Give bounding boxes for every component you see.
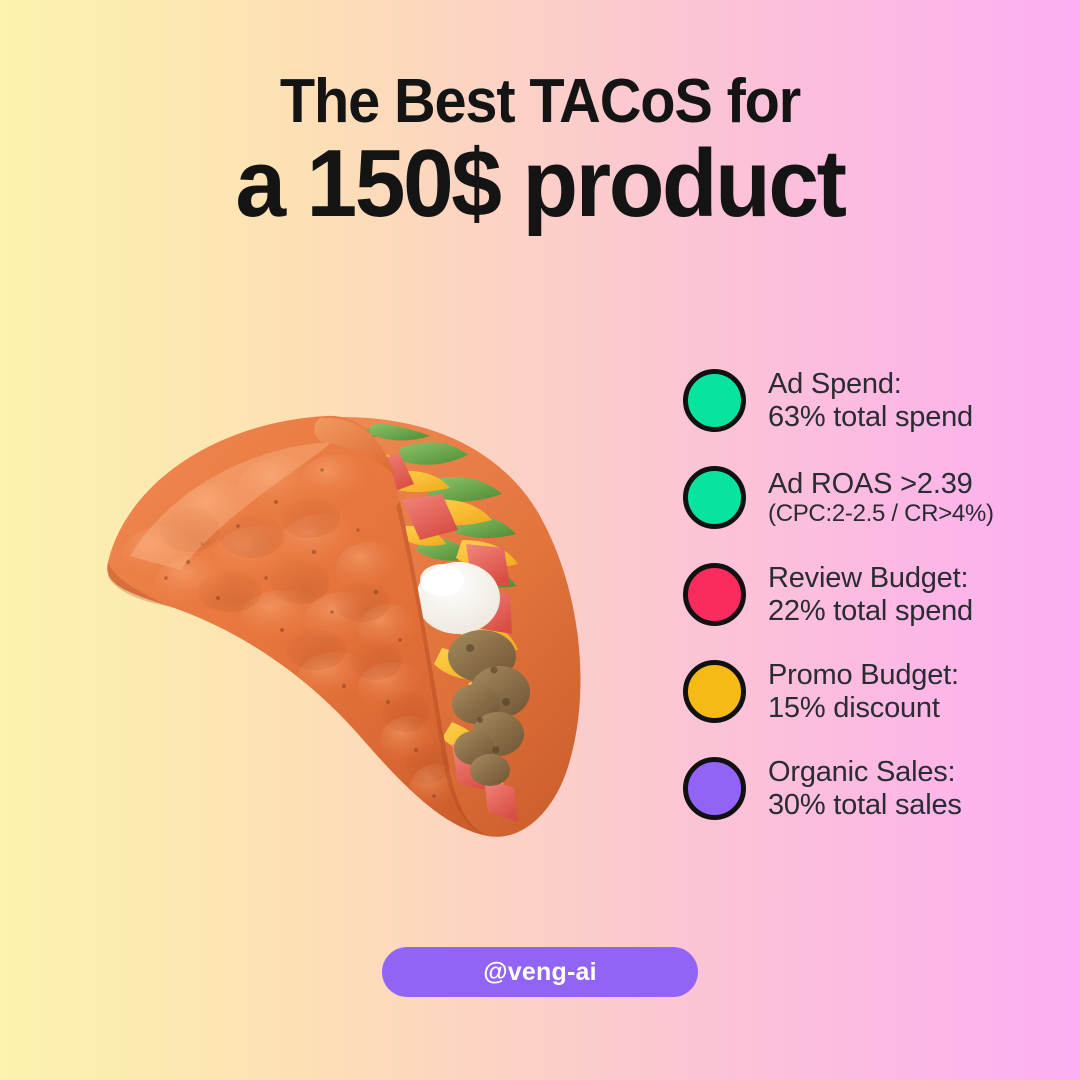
legend-item-organic-sales: Organic Sales: 30% total sales	[683, 740, 1063, 837]
legend-text-organic-sales: Organic Sales: 30% total sales	[768, 756, 962, 822]
legend-item-promo-budget: Promo Budget: 15% discount	[683, 643, 1063, 740]
legend-secondary-ad-roas: (CPC:2-2.5 / CR>4%)	[768, 500, 994, 527]
legend-primary-organic-sales: Organic Sales:	[768, 756, 962, 789]
legend-item-review-budget: Review Budget: 22% total spend	[683, 546, 1063, 643]
legend-primary-review-budget: Review Budget:	[768, 562, 973, 595]
legend-secondary-organic-sales: 30% total sales	[768, 789, 962, 822]
taco-illustration	[70, 330, 690, 890]
legend-dot-promo-budget	[683, 660, 746, 723]
legend-secondary-review-budget: 22% total spend	[768, 595, 973, 628]
handle-label: @veng-ai	[483, 958, 597, 987]
legend-secondary-ad-spend: 63% total spend	[768, 401, 973, 434]
legend-dot-ad-roas	[683, 466, 746, 529]
legend-primary-promo-budget: Promo Budget:	[768, 659, 959, 692]
page-title-line-1: The Best TACoS for	[38, 72, 1042, 132]
legend-item-ad-spend: Ad Spend: 63% total spend	[683, 352, 1063, 449]
legend-dot-organic-sales	[683, 757, 746, 820]
legend-primary-ad-spend: Ad Spend:	[768, 368, 973, 401]
legend-text-promo-budget: Promo Budget: 15% discount	[768, 659, 959, 725]
legend-secondary-promo-budget: 15% discount	[768, 692, 959, 725]
legend-dot-ad-spend	[683, 369, 746, 432]
legend-text-review-budget: Review Budget: 22% total spend	[768, 562, 973, 628]
metrics-legend: Ad Spend: 63% total spend Ad ROAS >2.39 …	[683, 352, 1063, 837]
legend-text-ad-spend: Ad Spend: 63% total spend	[768, 368, 973, 434]
legend-dot-review-budget	[683, 563, 746, 626]
page-title: The Best TACoS for a 150$ product	[0, 72, 1080, 232]
legend-primary-ad-roas: Ad ROAS >2.39	[768, 468, 994, 501]
filling-sour-cream	[416, 562, 500, 634]
page-title-line-2: a 150$ product	[27, 136, 1053, 232]
legend-item-ad-roas: Ad ROAS >2.39 (CPC:2-2.5 / CR>4%)	[683, 449, 1063, 546]
handle-badge[interactable]: @veng-ai	[382, 947, 698, 997]
legend-text-ad-roas: Ad ROAS >2.39 (CPC:2-2.5 / CR>4%)	[768, 468, 994, 528]
